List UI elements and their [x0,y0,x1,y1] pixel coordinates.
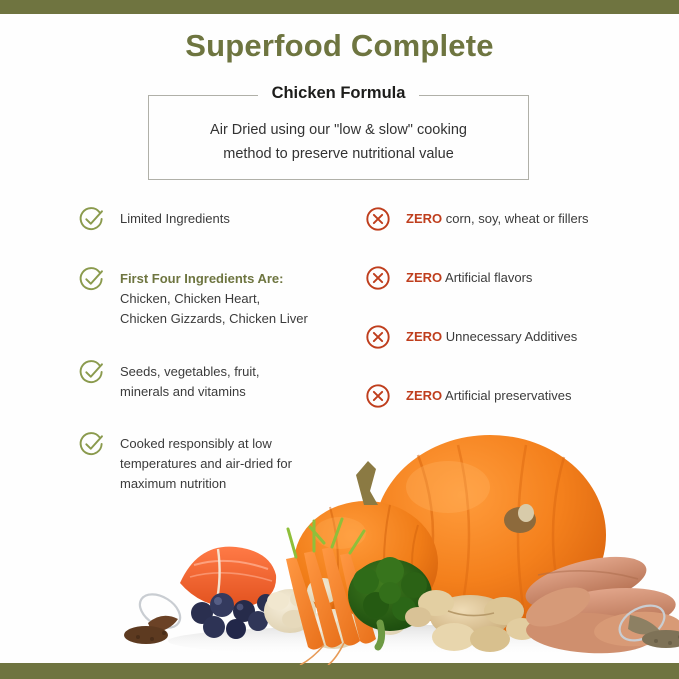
x-circle-icon [364,323,392,351]
exclusion-item: ZERO Artificial flavors [364,264,532,292]
formula-description-line-1: Air Dried using our "low & slow" cooking [149,118,528,142]
exclusion-item: ZERO corn, soy, wheat or fillers [364,205,589,233]
exclusion-text: ZERO Artificial preservatives [406,382,571,406]
benefit-line: Limited Ingredients [120,211,230,226]
infographic-page: Superfood Complete Chicken Formula Air D… [0,0,679,679]
formula-description-line-2: method to preserve nutritional value [149,142,528,166]
zero-label: ZERO [406,388,442,403]
check-circle-icon [78,430,106,458]
benefit-text: First Four Ingredients Are: Chicken, Chi… [120,265,308,329]
benefit-item: Seeds, vegetables, fruit, minerals and v… [78,358,259,402]
superfood-produce-photo [118,415,679,665]
exclusion-detail: corn, soy, wheat or fillers [442,211,588,226]
benefit-line: Chicken, Chicken Heart, [120,291,260,306]
exclusion-detail: Artificial flavors [442,270,532,285]
benefit-line: Chicken Gizzards, Chicken Liver [120,311,308,326]
check-circle-icon [78,358,106,386]
exclusion-detail: Unnecessary Additives [442,329,577,344]
benefit-line: Seeds, vegetables, fruit, [120,364,259,379]
benefit-text: Seeds, vegetables, fruit, minerals and v… [120,358,259,402]
benefit-heading: First Four Ingredients Are: [120,269,308,289]
benefit-text: Limited Ingredients [120,205,230,229]
benefit-item: Limited Ingredients [78,205,230,233]
check-circle-icon [78,205,106,233]
x-circle-icon [364,382,392,410]
benefit-line: minerals and vitamins [120,384,246,399]
exclusion-text: ZERO corn, soy, wheat or fillers [406,205,589,229]
zero-label: ZERO [406,211,442,226]
formula-description: Air Dried using our "low & slow" cooking… [149,118,528,166]
x-circle-icon [364,205,392,233]
exclusion-text: ZERO Unnecessary Additives [406,323,577,347]
top-accent-band [0,0,679,14]
exclusion-detail: Artificial preservatives [442,388,571,403]
seed-jar-left [124,587,186,644]
exclusion-text: ZERO Artificial flavors [406,264,532,288]
x-circle-icon [364,264,392,292]
formula-legend: Chicken Formula [149,84,528,103]
bottom-accent-band [0,663,679,679]
formula-callout-box: Chicken Formula Air Dried using our "low… [148,95,529,180]
page-title: Superfood Complete [0,28,679,64]
exclusion-item: ZERO Unnecessary Additives [364,323,577,351]
zero-label: ZERO [406,270,442,285]
check-circle-icon [78,265,106,293]
benefit-item: First Four Ingredients Are: Chicken, Chi… [78,265,308,329]
formula-legend-label: Chicken Formula [258,84,420,102]
zero-label: ZERO [406,329,442,344]
exclusion-item: ZERO Artificial preservatives [364,382,571,410]
